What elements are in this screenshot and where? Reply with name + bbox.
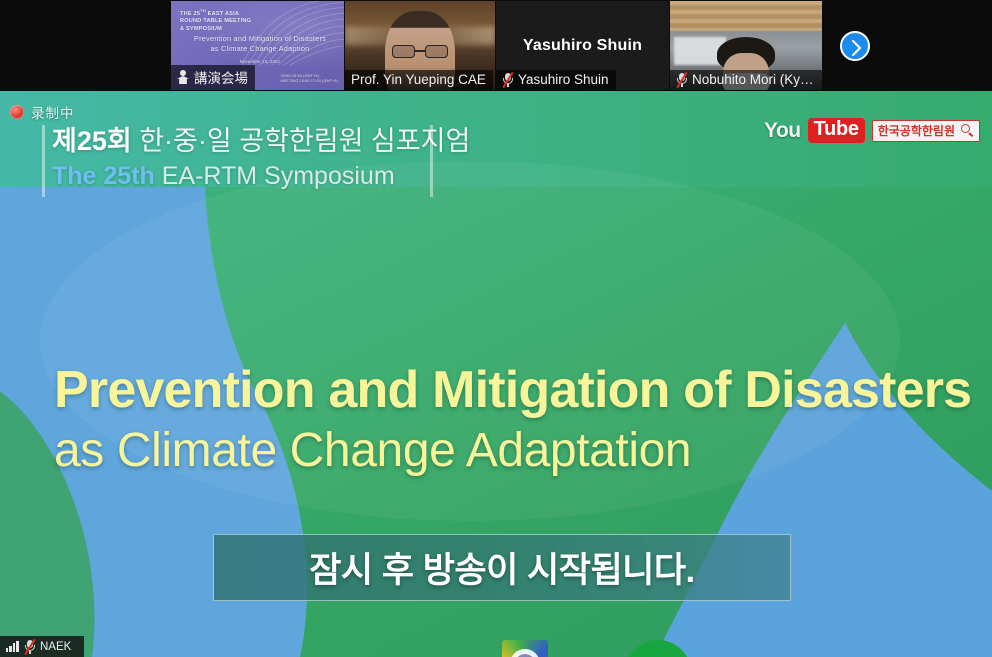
symposium-title-korean-prefix: 제25회 [52, 126, 132, 156]
youtube-search-query: 한국공학한림원 [878, 122, 955, 139]
glasses-graphic [392, 45, 448, 58]
magnifier-icon [961, 124, 974, 137]
logo-eaj: EAJ [600, 640, 692, 657]
symposium-title-korean-rest: 한·중·일 공학한림원 심포지엄 [132, 126, 471, 156]
chevron-right-icon [849, 39, 865, 57]
recording-indicator: 录制中 [10, 102, 75, 122]
headline-line-2: as Climate Change Adaptation [54, 421, 971, 481]
zoom-meeting-window: THE 25TH EAST ASIAROUND TABLE MEETING& S… [0, 0, 992, 657]
mic-muted-icon [502, 72, 513, 87]
youtube-tube-text: Tube [808, 118, 865, 143]
symposium-title-english-rest: EA-RTM Symposium [155, 162, 395, 190]
participant-name: 講演会場 [194, 67, 248, 87]
filmstrip-next-button[interactable] [840, 31, 870, 61]
thumbnail-slide-times: 09:50-15:50 (GMT+9)MEETING 15:50-17:00 (… [281, 74, 338, 84]
title-rule-right [430, 125, 433, 197]
eaj-emblem-icon: EAJ [610, 640, 682, 657]
taskbar-label: NAEK [40, 641, 71, 653]
broadcast-notice-panel: 잠시 후 방송이 시작됩니다. [213, 534, 791, 601]
taskbar-status-chip[interactable]: NAEK [0, 636, 84, 657]
broadcast-notice-text: 잠시 후 방송이 시작됩니다. [309, 542, 695, 593]
person-placeholder-icon [177, 70, 189, 84]
participant-name-bar: Yasuhiro Shuin [496, 70, 616, 90]
participant-thumbnail-yin-yueping[interactable]: Prof. Yin Yueping CAE [345, 1, 495, 90]
cae-emblem-icon: CAE [502, 640, 548, 657]
sponsor-logo-row: NAEK The National Academy of Engineering… [0, 632, 992, 657]
thumbnail-slide-title: Prevention and Mitigation of Disastersas… [185, 34, 335, 54]
slide-headline: Prevention and Mitigation of Disasters a… [54, 359, 971, 481]
mic-muted-icon [676, 72, 687, 87]
headline-line-1: Prevention and Mitigation of Disasters [54, 359, 971, 421]
youtube-you-text: You [764, 119, 801, 143]
youtube-search-box: 한국공학한림원 [872, 120, 980, 142]
title-rule-left [42, 125, 45, 197]
participant-thumbnail-lecture-hall[interactable]: THE 25TH EAST ASIAROUND TABLE MEETING& S… [171, 1, 344, 90]
participant-name: Yasuhiro Shuin [518, 72, 609, 87]
symposium-title-english: The 25th EA-RTM Symposium [52, 159, 470, 193]
youtube-channel-badge: You Tube 한국공학한림원 [764, 118, 980, 143]
participant-name: Nobuhito Mori (Kyot... [692, 72, 815, 87]
symposium-title-korean: 제25회 한·중·일 공학한림원 심포지엄 [52, 123, 470, 159]
participant-thumbnail-yasuhiro-shuin[interactable]: Yasuhiro Shuin Yasuhiro Shuin [496, 1, 669, 90]
recording-label: 录制中 [31, 102, 75, 122]
thumbnail-slide-kicker: THE 25TH EAST ASIAROUND TABLE MEETING& S… [180, 7, 251, 34]
participant-filmstrip: THE 25TH EAST ASIAROUND TABLE MEETING& S… [0, 0, 992, 91]
participant-name-bar: Nobuhito Mori (Kyot... [670, 70, 822, 90]
recording-dot-icon [10, 105, 24, 119]
mic-muted-icon [24, 639, 35, 654]
participant-name: Prof. Yin Yueping CAE [351, 72, 486, 87]
participant-name-bar: Prof. Yin Yueping CAE [345, 70, 493, 90]
thumbnail-slide-date: November 15, 2022 [185, 59, 335, 64]
participant-name-bar: 講演会場 [171, 65, 255, 90]
participant-thumbnail-nobuhito-mori[interactable]: Nobuhito Mori (Kyot... [670, 1, 822, 90]
signal-bars-icon [6, 641, 19, 652]
symposium-title-english-prefix: The 25th [52, 162, 155, 190]
symposium-title-block: 제25회 한·중·일 공학한림원 심포지엄 The 25th EA-RTM Sy… [52, 123, 470, 193]
logo-chinese-academy-of-engineering: CAE 中国工程院 Chinese Academy of Engineering [466, 640, 584, 657]
